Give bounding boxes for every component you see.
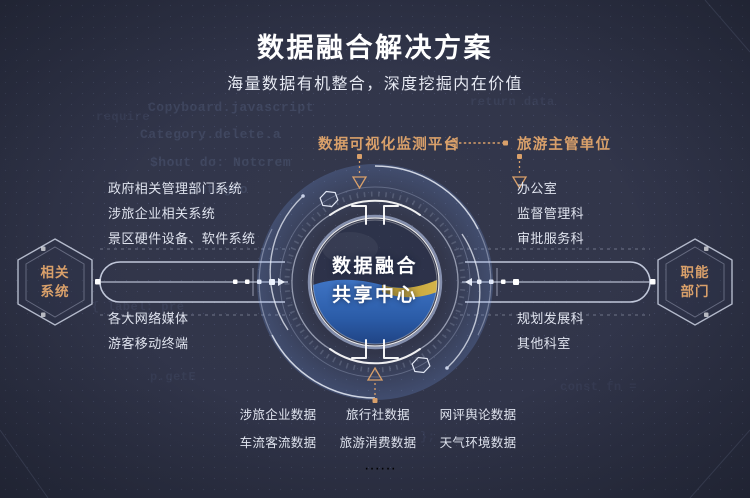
infographic-canvas: require Copyboard.javascript Category.de… — [0, 0, 750, 498]
hub-label: 数据融合 共享中心 — [0, 252, 750, 310]
data-category-item[interactable]: 车流客流数据 — [228, 432, 328, 451]
connector-bottom — [368, 368, 382, 403]
label-tourism-authority[interactable]: 旅游主管单位 — [517, 133, 611, 154]
label-visualization-platform[interactable]: 数据可视化监测平台 — [318, 133, 459, 154]
connector-platform — [353, 154, 366, 188]
department-list-bottom: 规划发展科 其他科室 — [517, 306, 584, 356]
list-item[interactable]: 其他科室 — [517, 331, 584, 356]
list-item[interactable]: 游客移动终端 — [108, 331, 188, 356]
data-categories-grid: 涉旅企业数据 旅行社数据 网评舆论数据 车流客流数据 旅游消费数据 天气环境数据 — [228, 404, 528, 451]
data-category-item[interactable]: 涉旅企业数据 — [228, 404, 328, 423]
list-item[interactable]: 涉旅企业相关系统 — [108, 201, 255, 226]
list-item[interactable]: 监督管理科 — [517, 201, 584, 226]
data-ellipsis: ······ — [280, 460, 480, 478]
data-category-item[interactable]: 网评舆论数据 — [428, 404, 528, 423]
data-category-item[interactable]: 旅游消费数据 — [328, 432, 428, 451]
data-category-item[interactable]: 天气环境数据 — [428, 432, 528, 451]
hub-label-line2: 共享中心 — [0, 281, 750, 310]
list-item[interactable]: 政府相关管理部门系统 — [108, 176, 255, 201]
page-subtitle: 海量数据有机整合，深度挖掘内在价值 — [0, 70, 750, 94]
page-title: 数据融合解决方案 — [0, 26, 750, 65]
source-media-list: 各大网络媒体 游客移动终端 — [108, 306, 188, 356]
list-item[interactable]: 景区硬件设备、软件系统 — [108, 226, 255, 251]
department-list-top: 办公室 监督管理科 审批服务科 — [517, 176, 584, 251]
source-systems-list: 政府相关管理部门系统 涉旅企业相关系统 景区硬件设备、软件系统 — [108, 176, 255, 251]
data-category-item[interactable]: 旅行社数据 — [328, 404, 428, 423]
hub-label-line1: 数据融合 — [0, 252, 750, 281]
list-item[interactable]: 审批服务科 — [517, 226, 584, 251]
list-item[interactable]: 办公室 — [517, 176, 584, 201]
